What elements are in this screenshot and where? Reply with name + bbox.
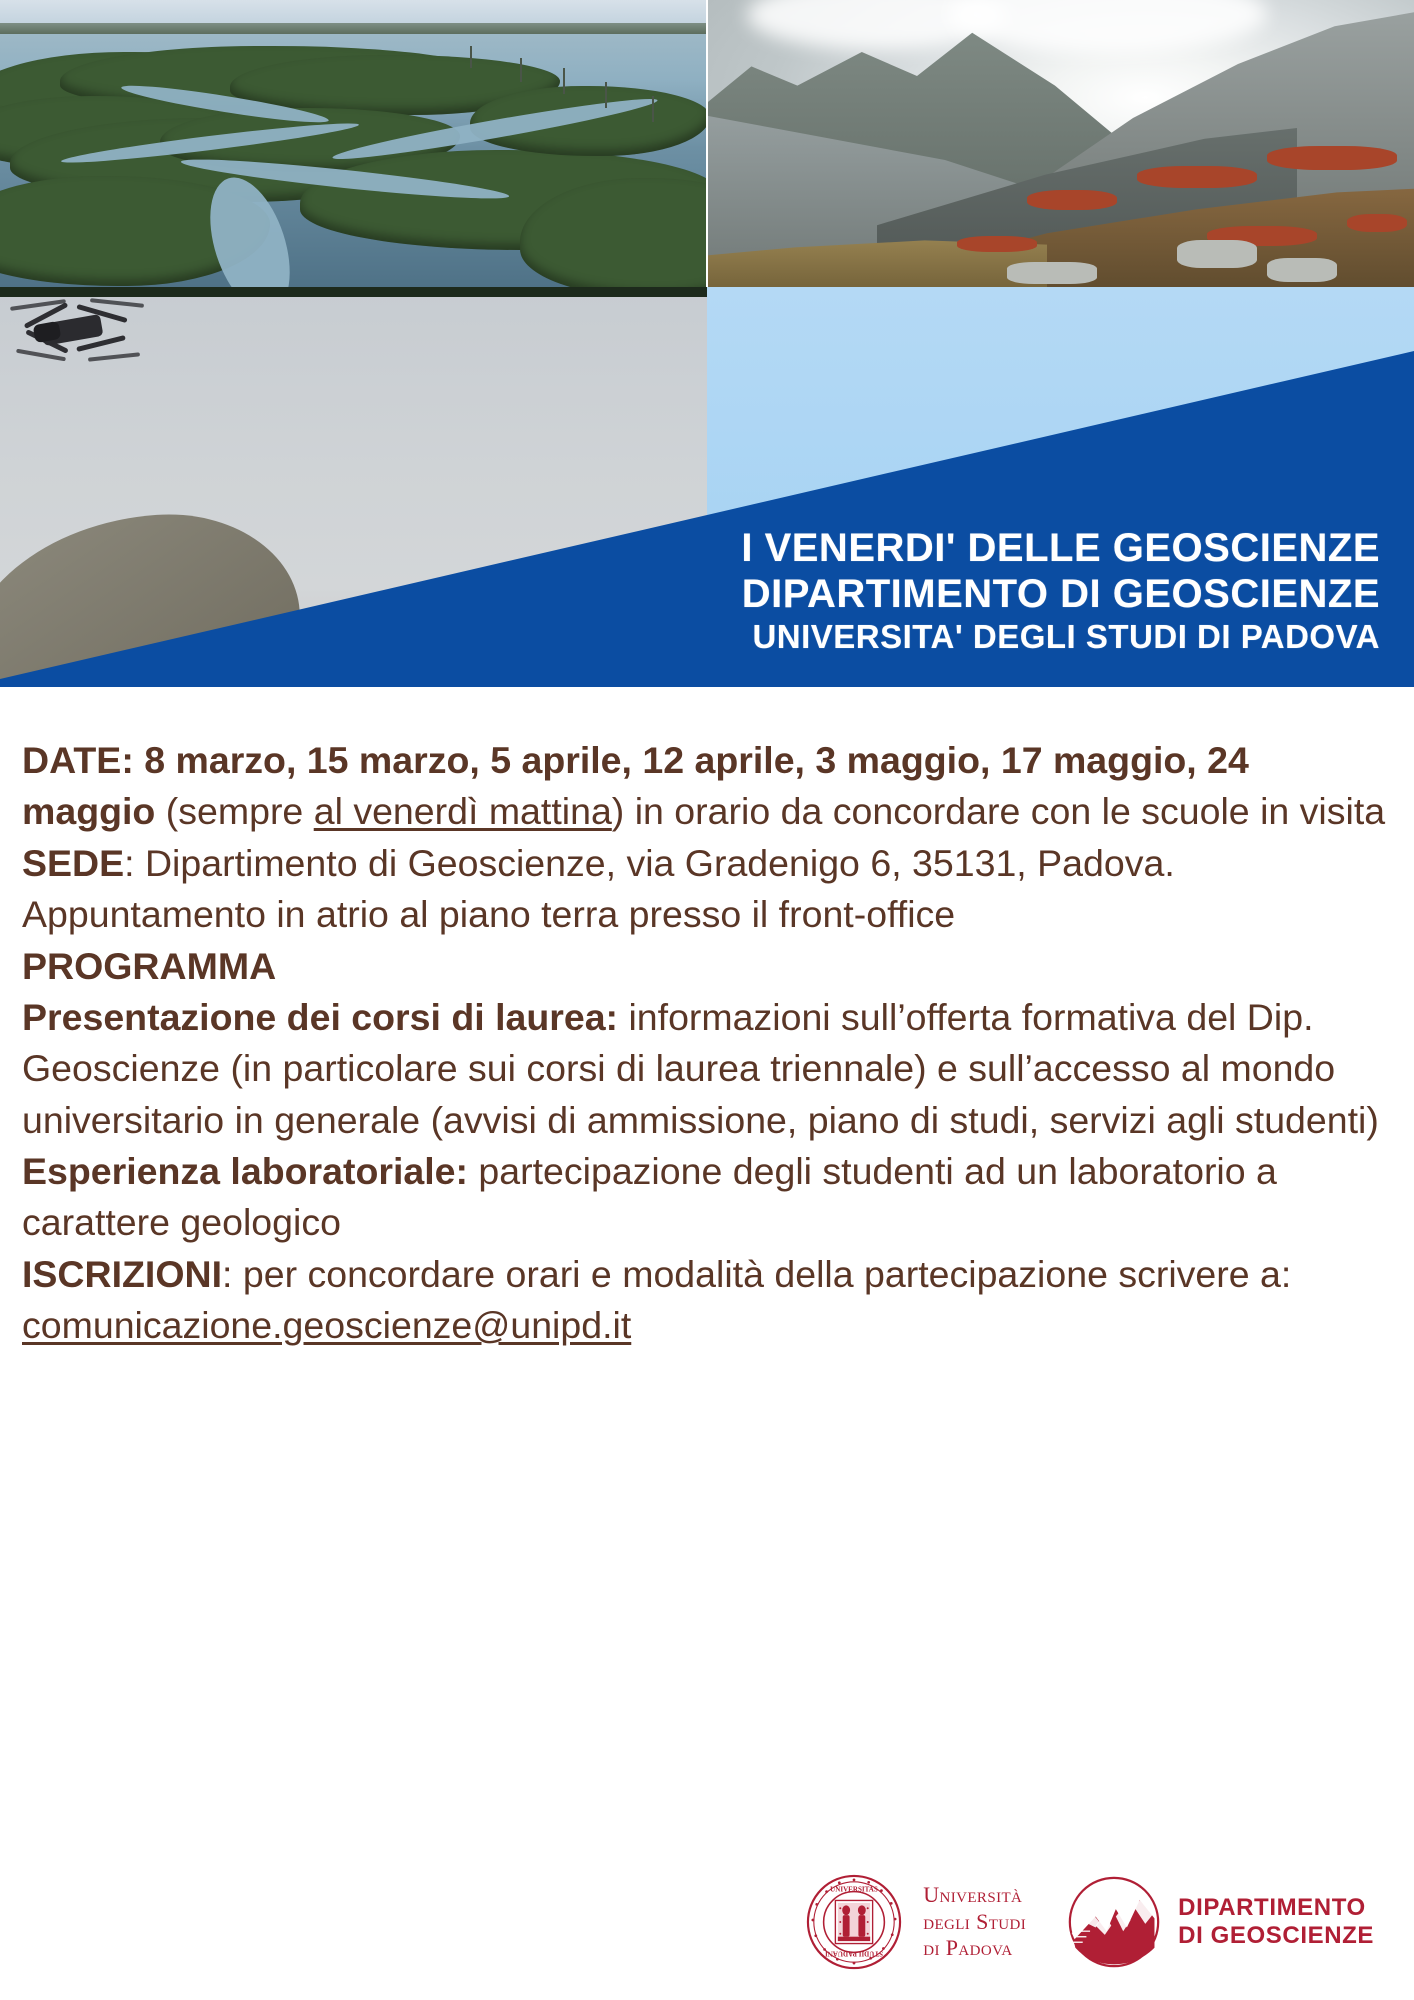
red-shrub [1027, 190, 1117, 210]
dipartimento-line-1: DIPARTIMENTO [1178, 1894, 1374, 1922]
unipd-line-1: Università [923, 1882, 1026, 1909]
sede-label: SEDE [22, 842, 124, 884]
programma-item-2: Esperienza laboratoriale: partecipazione… [22, 1146, 1388, 1249]
dipartimento-wordmark: DIPARTIMENTO DI GEOSCIENZE [1178, 1894, 1374, 1951]
date-label: DATE [22, 739, 121, 781]
dipartimento-di-geoscienze-logo: DIPARTIMENTO DI GEOSCIENZE [1068, 1876, 1374, 1968]
red-shrub [1137, 166, 1257, 188]
programma-item-2-label: Esperienza laboratoriale: [22, 1150, 468, 1192]
programma-item-1-label: Presentazione dei corsi di laurea: [22, 996, 618, 1038]
university-of-padova-wordmark: Università degli Studi di Padova [923, 1882, 1026, 1962]
date-colon: : [121, 739, 144, 781]
channel-marker-pole [605, 82, 607, 108]
university-of-padova-seal-icon: UNIVERSITAS STUDII PADUANI [805, 1873, 903, 1971]
iscrizioni-text: : per concordare orari e modalità della … [222, 1253, 1291, 1295]
rock [1267, 258, 1337, 282]
iscrizioni-label: ISCRIZIONI [22, 1253, 222, 1295]
aerial-lagoon-photo [0, 0, 707, 287]
programma-heading-text: PROGRAMMA [22, 945, 276, 987]
mountain-circle-icon [1068, 1876, 1160, 1968]
dipartimento-line-2: DI GEOSCIENZE [1178, 1922, 1374, 1950]
banner-title-block: I VENERDI' DELLE GEOSCIENZE DIPARTIMENTO… [0, 528, 1414, 653]
photo-seam [706, 0, 708, 287]
date-paren-open: (sempre [155, 790, 313, 832]
rock [1177, 240, 1257, 268]
red-shrub [1347, 214, 1407, 232]
programma-item-1: Presentazione dei corsi di laurea: infor… [22, 992, 1388, 1146]
banner-line-1: I VENERDI' DELLE GEOSCIENZE [0, 528, 1380, 568]
mountain-slope-photo [707, 0, 1414, 287]
banner-line-3: UNIVERSITA' DEGLI STUDI DI PADOVA [0, 620, 1380, 653]
sede-text: : Dipartimento di Geoscienze, via Graden… [22, 842, 1175, 935]
hero-image-collage: I VENERDI' DELLE GEOSCIENZE DIPARTIMENTO… [0, 0, 1414, 687]
svg-text:STUDII PADUANI: STUDII PADUANI [825, 1949, 883, 1957]
poster-body: DATE: 8 marzo, 15 marzo, 5 aprile, 12 ap… [0, 687, 1414, 1352]
date-underlined-note: al venerdì mattina [314, 790, 612, 832]
programma-heading: PROGRAMMA [22, 941, 1388, 992]
contact-email-link[interactable]: comunicazione.geoscienze@unipd.it [22, 1304, 631, 1346]
blue-banner-base [0, 680, 1414, 687]
date-paren-close: ) in orario da concordare con le scuole … [612, 790, 1385, 832]
date-paragraph: DATE: 8 marzo, 15 marzo, 5 aprile, 12 ap… [22, 735, 1388, 838]
university-of-padova-logo: UNIVERSITAS STUDII PADUANI Università de… [805, 1873, 1026, 1971]
photo-top-edge [0, 287, 707, 297]
channel-marker-pole [470, 46, 472, 68]
rock [1007, 262, 1097, 284]
footer-logos: UNIVERSITAS STUDII PADUANI Università de… [0, 1858, 1414, 1986]
red-shrub [1267, 146, 1397, 170]
drone-icon [14, 297, 144, 365]
iscrizioni-paragraph: ISCRIZIONI: per concordare orari e modal… [22, 1249, 1388, 1352]
red-shrub [957, 236, 1037, 252]
channel-marker-pole [520, 58, 522, 82]
unipd-line-3: di Padova [923, 1935, 1026, 1962]
channel-marker-pole [563, 68, 565, 94]
banner-line-2: DIPARTIMENTO DI GEOSCIENZE [0, 574, 1380, 614]
svg-text:UNIVERSITAS: UNIVERSITAS [830, 1886, 878, 1894]
sede-paragraph: SEDE: Dipartimento di Geoscienze, via Gr… [22, 838, 1388, 941]
lagoon-sky [0, 0, 707, 26]
channel-marker-pole [652, 96, 654, 122]
unipd-line-2: degli Studi [923, 1909, 1026, 1936]
